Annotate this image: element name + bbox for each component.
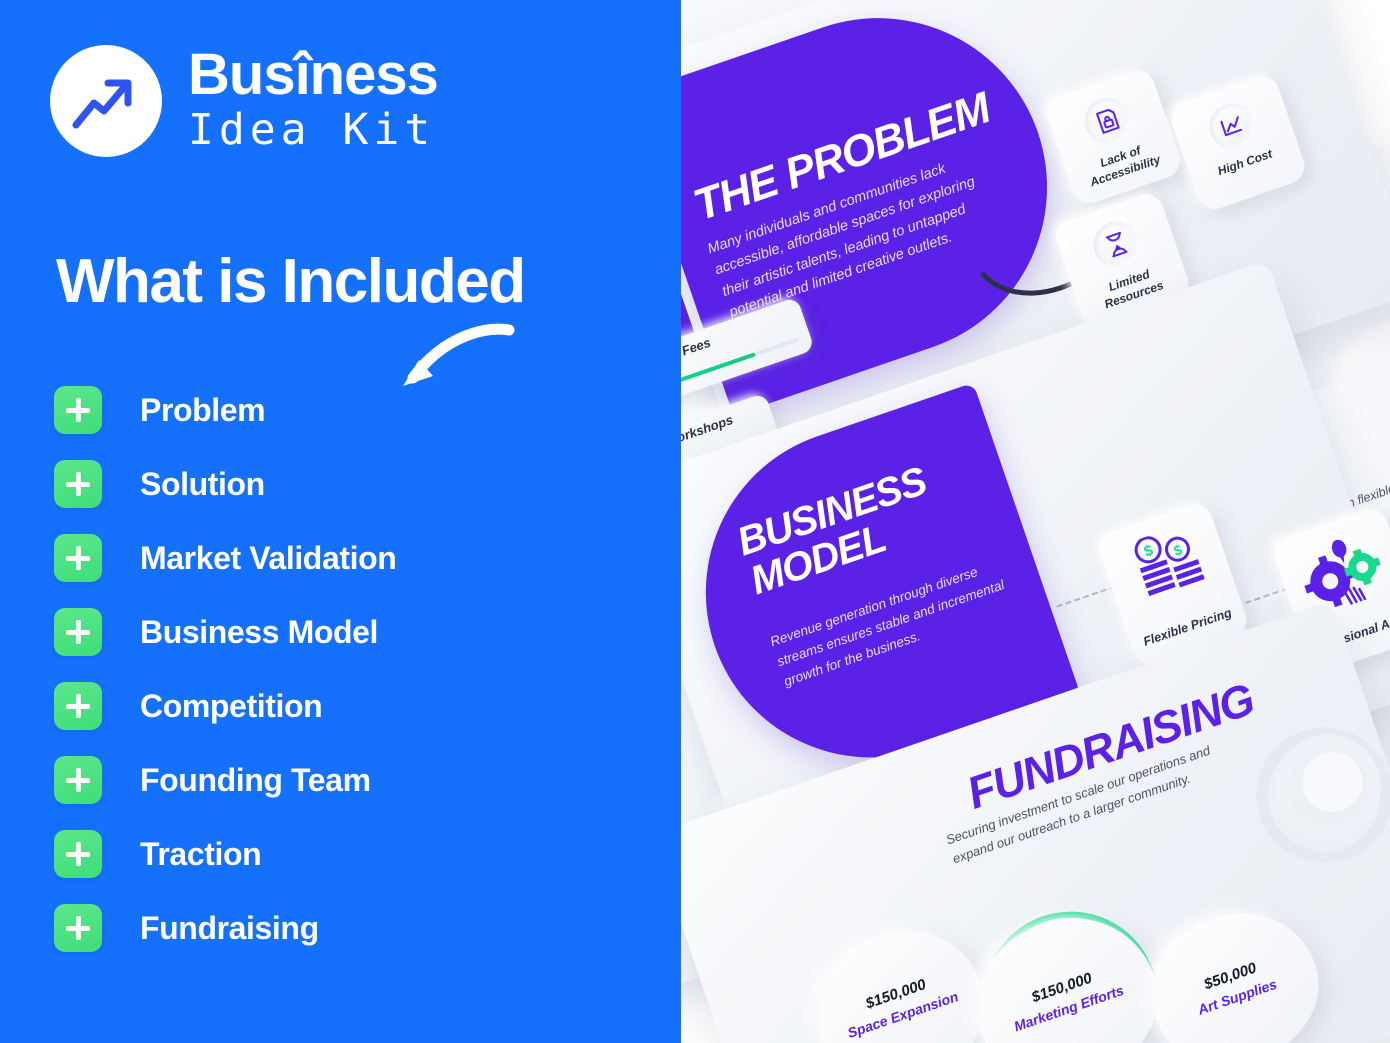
plus-icon: [54, 756, 102, 804]
list-item[interactable]: Traction: [54, 830, 396, 878]
plus-icon: [54, 608, 102, 656]
plus-icon: [54, 460, 102, 508]
included-features-list: Problem Solution Market Validation Busin…: [54, 386, 396, 978]
list-item[interactable]: Solution: [54, 460, 396, 508]
list-item-label: Traction: [140, 836, 261, 873]
growth-chart-arrow-icon: [50, 45, 162, 157]
list-item[interactable]: Competition: [54, 682, 396, 730]
problem-tile-high-cost[interactable]: High Cost: [1167, 71, 1309, 213]
svg-text:$: $: [1142, 542, 1156, 561]
decorative-rings: [1217, 703, 1390, 914]
plus-icon: [54, 386, 102, 434]
lock-document-icon: [1079, 91, 1137, 149]
dashed-connector: [1056, 586, 1115, 608]
hourglass-icon: [1087, 215, 1145, 273]
plus-icon: [54, 904, 102, 952]
tile-label: Lack of Accessibility: [1065, 132, 1181, 197]
plus-icon: [54, 830, 102, 878]
list-item-label: Solution: [140, 466, 265, 503]
list-item[interactable]: Founding Team: [54, 756, 396, 804]
plus-icon: [54, 534, 102, 582]
fund-allocation-space-expansion[interactable]: $150,000 Space Expansion: [797, 910, 1005, 1043]
list-item-label: Business Model: [140, 614, 378, 651]
list-item[interactable]: Business Model: [54, 608, 396, 656]
slide-previews-panel: Accessible Spaces THE PROBLEM Many indiv…: [681, 0, 1390, 1043]
list-item-label: Problem: [140, 392, 265, 429]
page-title: What is Included: [56, 246, 525, 317]
list-item-label: Competition: [140, 688, 322, 725]
list-item-label: Market Validation: [140, 540, 396, 577]
dashed-connector: [1236, 588, 1288, 607]
list-item[interactable]: Problem: [54, 386, 396, 434]
brand-name-secondary: Idea Kit: [188, 106, 438, 155]
gears-creative-icon: [1291, 525, 1390, 620]
money-coins-bars-icon: $ $: [1119, 521, 1214, 612]
brand-logo: Busîness Idea Kit: [50, 45, 438, 157]
left-info-panel: Busîness Idea Kit What is Included Probl…: [0, 0, 681, 1043]
line-chart-down-icon: [1203, 97, 1261, 155]
fund-allocation-art-supplies[interactable]: $50,000 Art Supplies: [1131, 892, 1338, 1043]
plus-icon: [54, 682, 102, 730]
list-item-label: Fundraising: [140, 910, 319, 947]
list-item[interactable]: Fundraising: [54, 904, 396, 952]
list-item[interactable]: Market Validation: [54, 534, 396, 582]
problem-tile-accessibility[interactable]: Lack of Accessibility: [1042, 66, 1184, 208]
curved-arrow-down-left-icon: [385, 320, 515, 401]
list-item-label: Founding Team: [140, 762, 371, 799]
svg-text:$: $: [1172, 541, 1185, 559]
brand-name-primary: Busîness: [188, 47, 438, 104]
